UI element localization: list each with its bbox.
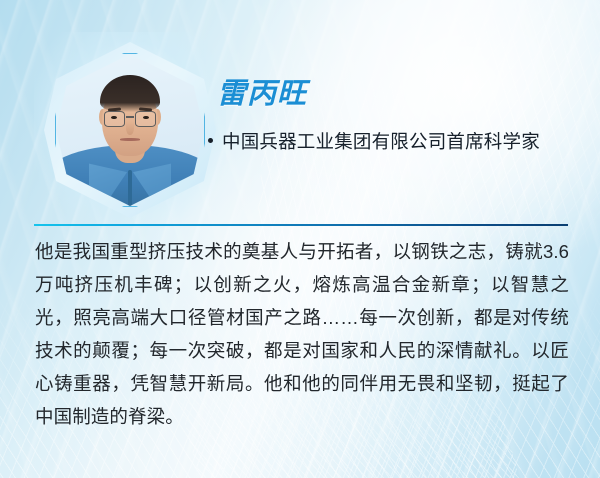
bullet-icon: [208, 138, 213, 143]
person-name: 雷丙旺: [217, 70, 307, 112]
bio-paragraph: 他是我国重型挤压技术的奠基人与开拓者，以钢铁之志，铸就3.6万吨挤压机丰碑；以创…: [35, 235, 569, 433]
person-title: 中国兵器工业集团有限公司首席科学家: [222, 126, 540, 157]
portrait-frame: [44, 42, 216, 218]
section-divider: [34, 224, 568, 226]
profile-card: 雷丙旺 中国兵器工业集团有限公司首席科学家 他是我国重型挤压技术的奠基人与开拓者…: [0, 0, 600, 478]
person-title-block: 中国兵器工业集团有限公司首席科学家: [208, 126, 576, 157]
